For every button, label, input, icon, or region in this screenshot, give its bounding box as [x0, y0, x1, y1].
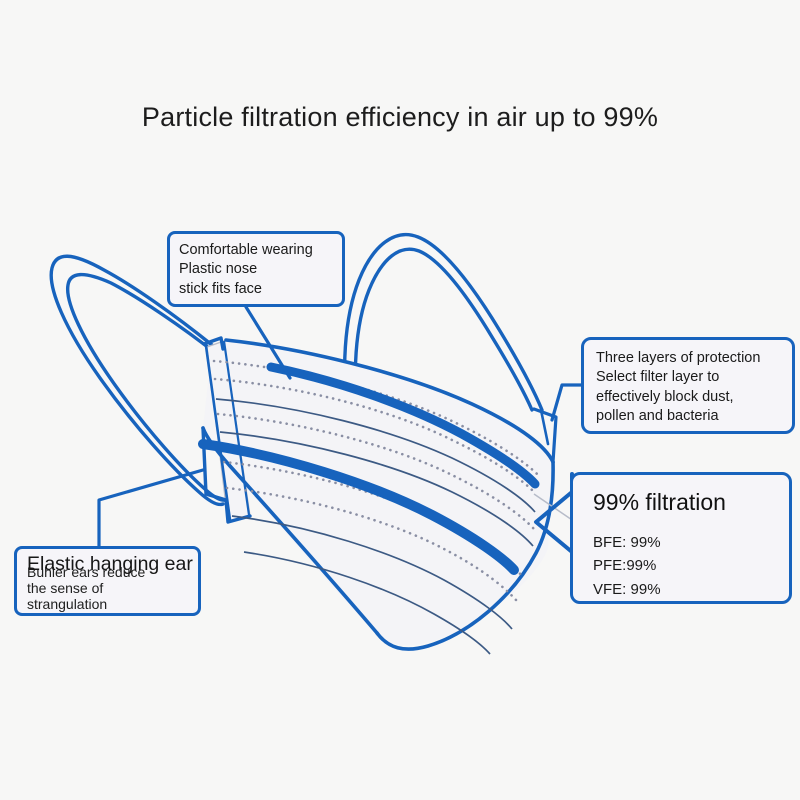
callout-99-filtration[interactable]: 99% filtration BFE: 99% PFE:99% VFE: 99% [570, 472, 792, 604]
filtration-headline: 99% filtration [593, 487, 726, 518]
callout-comfort-line-1: Comfortable wearing [179, 241, 342, 260]
callout-comfort-line-3: stick fits face [179, 280, 342, 299]
ear-sub-line-3: strangulation [27, 597, 145, 613]
spec-vfe: VFE: 99% [593, 578, 661, 601]
callout-elastic-hanging-ear[interactable]: Buhler ears reduce the sense of strangul… [14, 546, 201, 616]
callout-comfortable-wearing[interactable]: Comfortable wearing Plastic nose stick f… [167, 231, 345, 307]
infographic-canvas: Particle filtration efficiency in air up… [0, 0, 800, 800]
callout-layers-line-1: Three layers of protection [596, 349, 792, 368]
spec-pfe: PFE:99% [593, 554, 661, 577]
callout-comfort-line-2: Plastic nose [179, 260, 342, 279]
filtration-spec-list: BFE: 99% PFE:99% VFE: 99% [593, 531, 661, 601]
spec-bfe: BFE: 99% [593, 531, 661, 554]
callout-layers-line-3: effectively block dust, [596, 388, 792, 407]
callout-three-layers[interactable]: Three layers of protection Select filter… [581, 337, 795, 434]
ear-sub-line-2: the sense of [27, 581, 145, 597]
callout-layers-line-2: Select filter layer to [596, 368, 792, 387]
callout-layers-line-4: pollen and bacteria [596, 407, 792, 426]
ear-headline: Elastic hanging ear [27, 552, 193, 578]
